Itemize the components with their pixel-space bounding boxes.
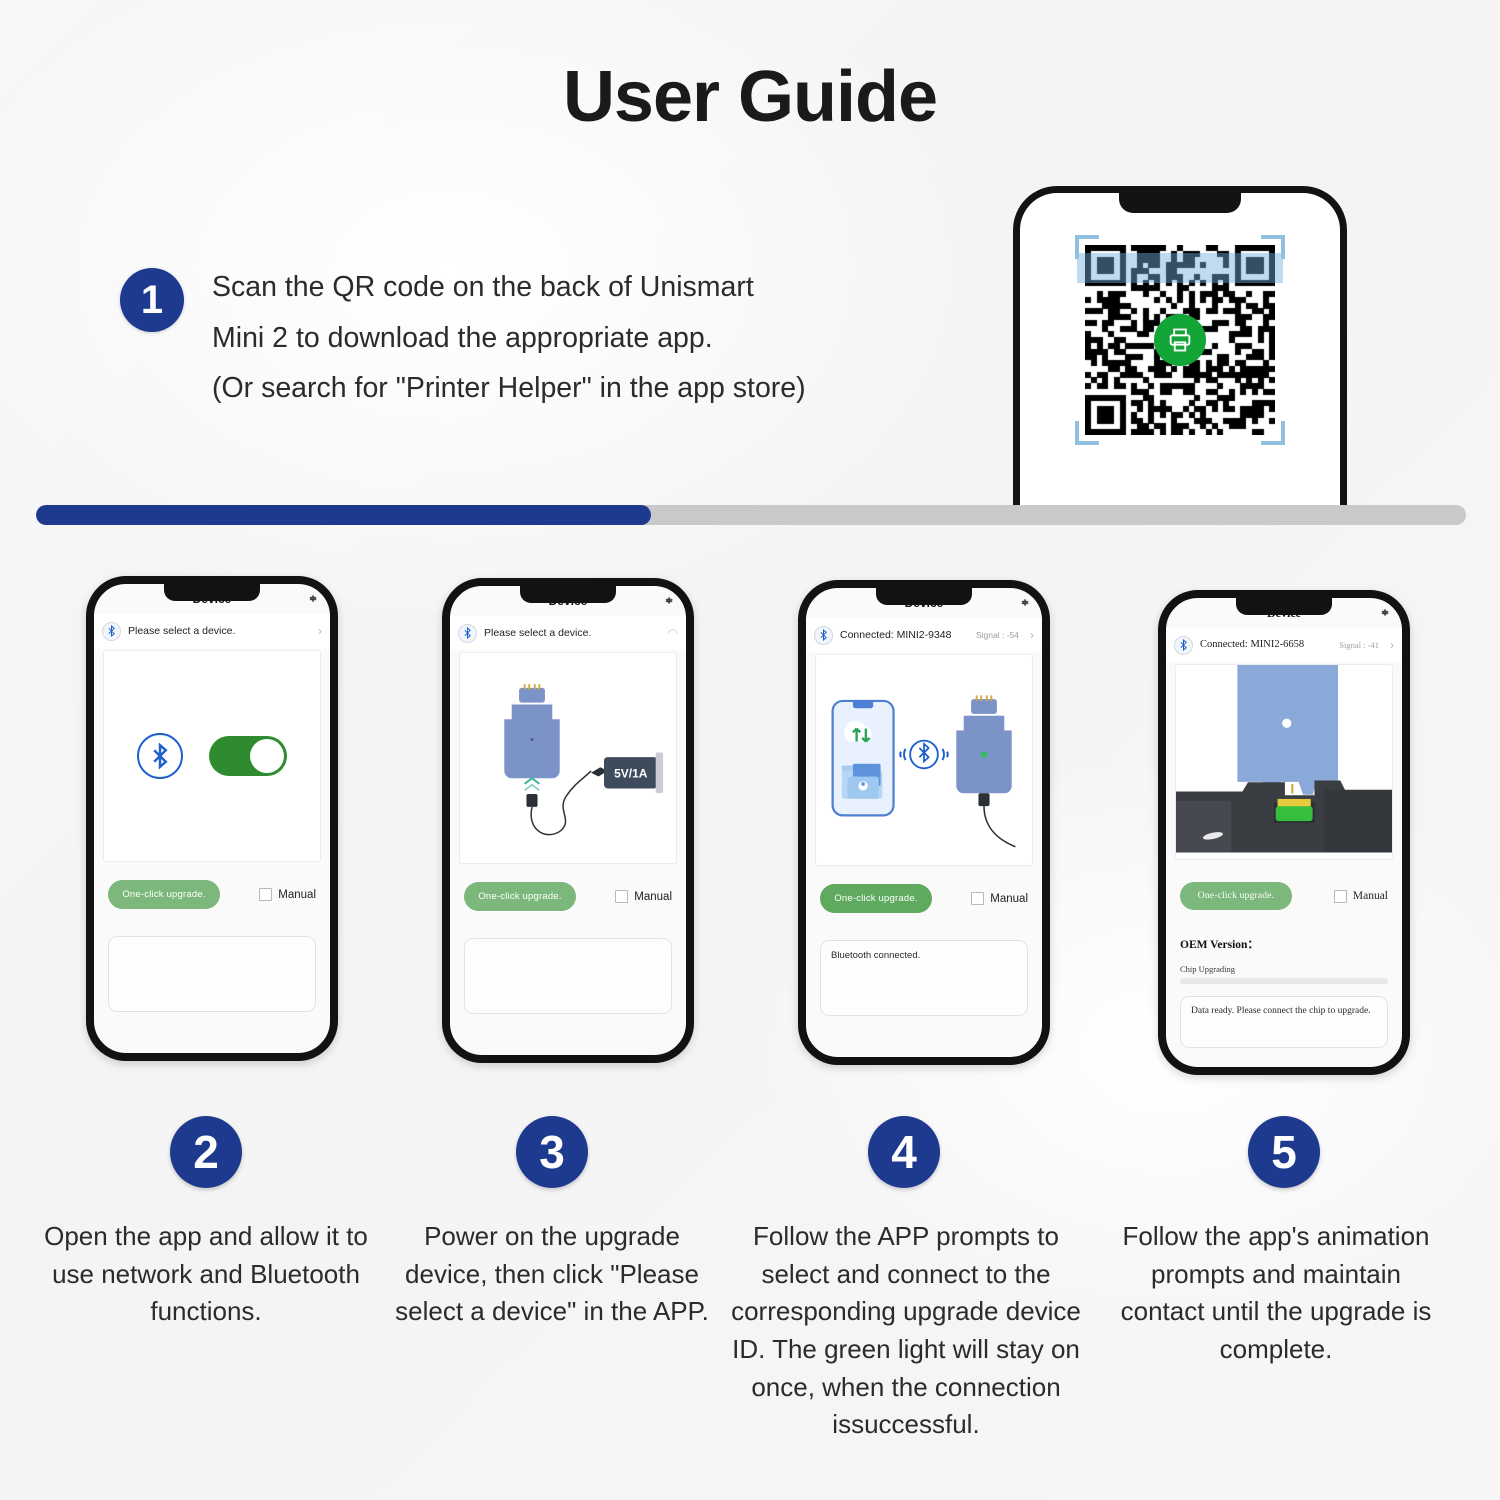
log-panel (108, 936, 316, 1012)
refresh-icon[interactable]: ◠ (668, 626, 678, 640)
signal-strength: Signal : -41 (1339, 640, 1379, 650)
manual-checkbox-group[interactable]: Manual (615, 890, 672, 903)
step-caption-5: Follow the app's animation prompts and m… (1108, 1218, 1444, 1369)
phone-step3: Device Please select a device. ◠ (442, 578, 694, 1063)
device-status-bar[interactable]: Connected: MINI2-9348 Signal : -54 › (806, 618, 1042, 652)
action-row: One-click upgrade. Manual (1166, 882, 1402, 910)
bluetooth-icon (1174, 636, 1193, 655)
manual-checkbox[interactable] (1334, 890, 1347, 903)
device-status-text: Please select a device. (484, 627, 650, 639)
bluetooth-icon (814, 626, 833, 645)
device-status-text: Connected: MINI2-9348 (840, 629, 969, 641)
device-status-bar[interactable]: Please select a device. › (94, 614, 330, 648)
step-badge-2: 2 (170, 1116, 242, 1188)
one-click-upgrade-button[interactable]: One-click upgrade. (464, 882, 576, 911)
action-row: One-click upgrade. Manual (450, 882, 686, 911)
phone-notch (1119, 191, 1241, 213)
phone-step2: Device Please select a device. › On (86, 576, 338, 1061)
qr-code-area (1085, 245, 1275, 435)
manual-label: Manual (1353, 890, 1388, 902)
gear-icon[interactable] (307, 593, 318, 606)
page-title: User Guide (0, 56, 1500, 138)
step-caption-4: Follow the APP prompts to select and con… (724, 1218, 1088, 1444)
log-panel: Data ready. Please connect the chip to u… (1180, 996, 1388, 1048)
device-status-text: Connected: MINI2-6658 (1200, 639, 1332, 651)
progress-bar-track[interactable] (36, 505, 1466, 525)
chip-status-text: Chip Upgrading (1180, 964, 1235, 974)
chevron-right-icon[interactable]: › (1030, 628, 1034, 642)
chip-progress-bar (1180, 978, 1388, 984)
device-status-bar[interactable]: Connected: MINI2-6658 Signal : -41 › (1166, 628, 1402, 662)
one-click-upgrade-button[interactable]: One-click upgrade. (820, 884, 932, 913)
manual-checkbox[interactable] (971, 892, 984, 905)
manual-checkbox[interactable] (615, 890, 628, 903)
step-1-line-3: (Or search for "Printer Helper" in the a… (212, 363, 806, 414)
step-1-line-1: Scan the QR code on the back of Unismart (212, 262, 806, 313)
step-badge-3: 3 (516, 1116, 588, 1188)
log-panel: Bluetooth connected. (820, 940, 1028, 1016)
step-1-text: Scan the QR code on the back of Unismart… (212, 262, 806, 414)
signal-strength: Signal : -54 (976, 630, 1019, 640)
toggle-knob (250, 739, 284, 773)
phone-notch (1236, 598, 1332, 615)
step-1-block: 1 Scan the QR code on the back of Unisma… (120, 262, 806, 414)
device-screen-area (815, 654, 1033, 866)
action-row: One-click upgrade. Manual (94, 880, 330, 909)
gear-icon[interactable] (1019, 597, 1030, 610)
chip-contact-photo (1176, 665, 1392, 859)
bluetooth-icon (102, 622, 121, 641)
device-screen-area (1175, 664, 1393, 860)
qr-bracket-top-right (1261, 235, 1285, 259)
manual-checkbox[interactable] (259, 888, 272, 901)
bluetooth-toggle[interactable] (209, 736, 287, 776)
manual-label: Manual (634, 891, 672, 903)
bluetooth-icon (458, 624, 477, 643)
adapter-label: 5V/1A (614, 766, 648, 780)
device-status-bar[interactable]: Please select a device. ◠ (450, 616, 686, 650)
one-click-upgrade-button[interactable]: One-click upgrade. (108, 880, 220, 909)
oem-version-label: OEM Version： (1180, 936, 1259, 952)
phone-notch (520, 586, 616, 603)
device-screen-area (103, 650, 321, 862)
phone-step4: Device Connected: MINI2-9348 Signal : -5… (798, 580, 1050, 1065)
qr-bracket-bottom-right (1261, 421, 1285, 445)
manual-label: Manual (278, 889, 316, 901)
qr-scan-line (1077, 253, 1283, 283)
step-1-line-2: Mini 2 to download the appropriate app. (212, 313, 806, 364)
manual-checkbox-group[interactable]: Manual (259, 888, 316, 901)
step-caption-2: Open the app and allow it to use network… (36, 1218, 376, 1331)
one-click-upgrade-button[interactable]: One-click upgrade. (1180, 882, 1292, 910)
user-guide-page: User Guide 1 Scan the QR code on the bac… (0, 0, 1500, 1500)
power-on-illustration: 5V/1A (460, 653, 676, 863)
bluetooth-large-icon (137, 733, 183, 779)
gear-icon[interactable] (663, 595, 674, 608)
device-screen-area: 5V/1A (459, 652, 677, 864)
action-row: One-click upgrade. Manual (806, 884, 1042, 913)
step-badge-1: 1 (120, 268, 184, 332)
step-badge-5: 5 (1248, 1116, 1320, 1188)
progress-bar-fill (36, 505, 651, 525)
phone-notch (164, 584, 260, 601)
chevron-right-icon[interactable]: › (318, 624, 322, 638)
pairing-illustration (816, 655, 1032, 865)
log-panel (464, 938, 672, 1014)
gear-icon[interactable] (1379, 607, 1390, 620)
qr-bracket-top-left (1075, 235, 1099, 259)
device-status-text: Please select a device. (128, 625, 300, 637)
qr-scan-phone (1013, 186, 1347, 511)
chevron-right-icon[interactable]: › (1390, 638, 1394, 652)
printer-icon (1154, 314, 1206, 366)
qr-bracket-bottom-left (1075, 421, 1099, 445)
phone-step5: Device Connected: MINI2-6658 Signal : -4… (1158, 590, 1410, 1075)
phone-notch (876, 588, 972, 605)
step-caption-3: Power on the upgrade device, then click … (394, 1218, 710, 1331)
manual-label: Manual (990, 893, 1028, 905)
manual-checkbox-group[interactable]: Manual (971, 892, 1028, 905)
manual-checkbox-group[interactable]: Manual (1334, 890, 1388, 903)
step-badge-4: 4 (868, 1116, 940, 1188)
